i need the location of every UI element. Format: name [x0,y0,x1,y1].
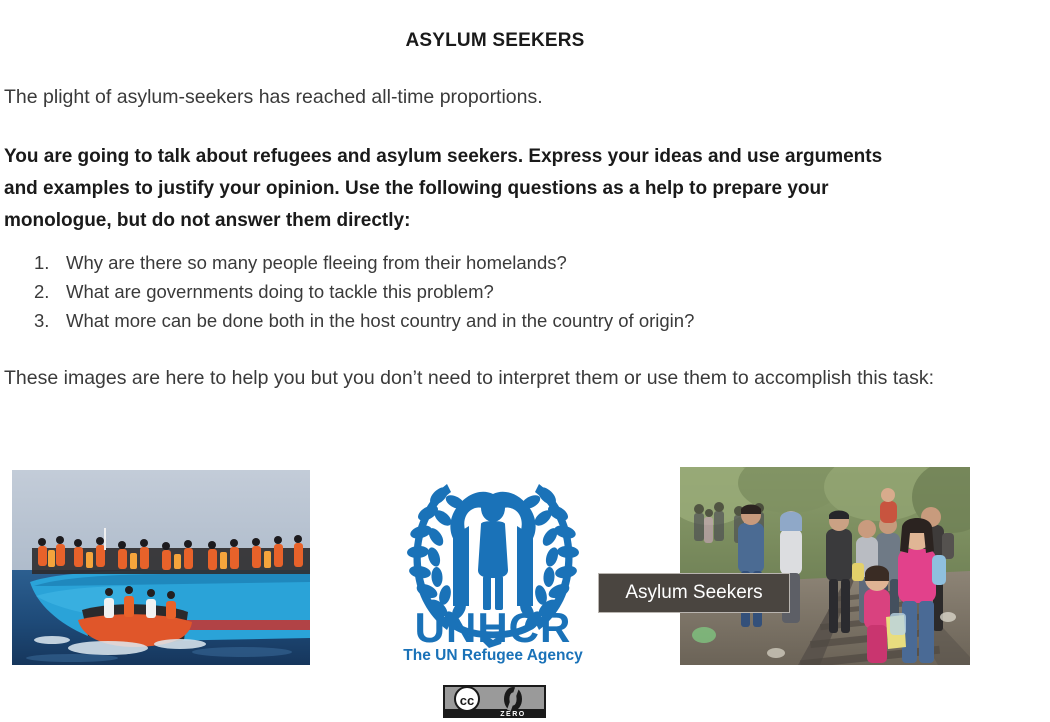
task-brief-line-3: monologue, but do not answer them direct… [4,205,984,237]
intro-paragraph: The plight of asylum-seekers has reached… [4,86,1004,109]
unhcr-logo-graphic: UNHCR The UN Refugee Agency [377,458,609,666]
list-item: 2. What are governments doing to tackle … [34,277,974,306]
overcrowded-boat-photo [12,470,310,665]
task-brief-line-1: You are going to talk about refugees and… [4,141,984,173]
unhcr-wordmark: UNHCR [415,604,572,651]
refugees-railway-photo [680,467,970,665]
list-item-text: What are governments doing to tackle thi… [66,277,494,306]
list-item-text: What more can be done both in the host c… [66,306,694,335]
closing-paragraph: These images are here to help you but yo… [4,363,994,394]
list-item-text: Why are there so many people fleeing fro… [66,248,567,277]
page-title: ASYLUM SEEKERS [0,30,990,52]
list-item-number: 3. [34,306,66,335]
cc-zero-badge[interactable]: cc ZERO [443,685,546,718]
railway-photo-graphic [680,467,970,665]
question-list: 1. Why are there so many people fleeing … [34,248,974,335]
list-item-number: 1. [34,248,66,277]
list-item-number: 2. [34,277,66,306]
cc-zero-label: ZERO [500,711,525,718]
unhcr-tagline: The UN Refugee Agency [403,647,583,664]
cc-label: cc [460,693,474,708]
list-item: 1. Why are there so many people fleeing … [34,248,974,277]
task-brief-line-2: and examples to justify your opinion. Us… [4,173,984,205]
task-brief: You are going to talk about refugees and… [4,141,984,237]
asylum-seekers-tooltip: Asylum Seekers [598,573,790,613]
cc-zero-badge-graphic: cc ZERO [443,685,546,718]
unhcr-logo: UNHCR The UN Refugee Agency [377,458,609,666]
tooltip-label: Asylum Seekers [625,582,762,604]
list-item: 3. What more can be done both in the hos… [34,306,974,335]
boat-photo-graphic [12,470,310,665]
